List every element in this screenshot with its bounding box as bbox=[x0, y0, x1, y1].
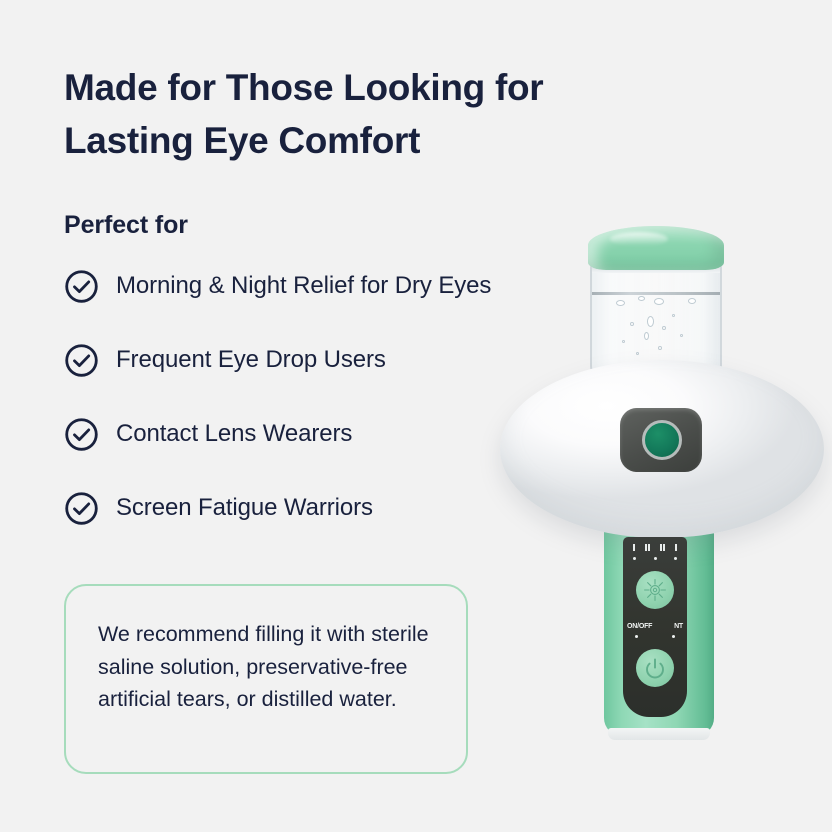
list-item-label: Contact Lens Wearers bbox=[116, 422, 352, 446]
mist-button[interactable] bbox=[636, 571, 674, 609]
recommendation-callout: We recommend filling it with sterile sal… bbox=[64, 584, 468, 774]
check-circle-icon bbox=[64, 491, 99, 526]
bubble bbox=[688, 298, 696, 304]
power-icon bbox=[643, 656, 667, 680]
check-circle-icon bbox=[64, 269, 99, 304]
bubble bbox=[680, 334, 683, 337]
tick-mark bbox=[675, 544, 677, 551]
bubble bbox=[644, 332, 649, 340]
list-item-label: Morning & Night Relief for Dry Eyes bbox=[116, 274, 491, 298]
bubble bbox=[636, 352, 639, 355]
mist-nozzle-icon bbox=[642, 420, 682, 460]
bubble bbox=[622, 340, 625, 343]
mist-spray-icon bbox=[642, 577, 668, 603]
indicator-dot bbox=[674, 557, 677, 560]
bubble bbox=[654, 298, 664, 305]
tick-mark bbox=[645, 544, 650, 551]
indicator-dot bbox=[633, 557, 636, 560]
onoff-label: ON/OFF bbox=[627, 623, 652, 630]
bubble bbox=[658, 346, 662, 350]
indicator-dot bbox=[654, 557, 657, 560]
nt-label: NT bbox=[674, 623, 683, 630]
led-indicators bbox=[635, 635, 675, 638]
control-labels: ON/OFF NT bbox=[627, 623, 683, 630]
indicator-dots bbox=[633, 557, 677, 560]
product-image: ON/OFF NT bbox=[492, 212, 832, 752]
bubble bbox=[630, 322, 634, 326]
product-feature-page: Made for Those Looking for Lasting Eye C… bbox=[0, 0, 832, 832]
power-button[interactable] bbox=[636, 649, 674, 687]
handle-base bbox=[608, 728, 710, 740]
list-item-label: Screen Fatigue Warriors bbox=[116, 496, 373, 520]
cap-highlight bbox=[610, 232, 668, 246]
recommendation-text: We recommend filling it with sterile sal… bbox=[98, 618, 436, 716]
page-title: Made for Those Looking for Lasting Eye C… bbox=[64, 62, 604, 167]
check-circle-icon bbox=[64, 343, 99, 378]
check-circle-icon bbox=[64, 417, 99, 452]
bubble bbox=[638, 296, 645, 301]
tick-mark bbox=[633, 544, 635, 551]
bubble bbox=[672, 314, 675, 317]
list-item-label: Frequent Eye Drop Users bbox=[116, 348, 386, 372]
led-indicator bbox=[635, 635, 638, 638]
led-indicator bbox=[672, 635, 675, 638]
bubble bbox=[662, 326, 666, 330]
bubble bbox=[616, 300, 625, 306]
indicator-ticks bbox=[633, 544, 677, 552]
bubble bbox=[647, 316, 654, 327]
tick-mark bbox=[660, 544, 665, 551]
water-line bbox=[592, 292, 720, 295]
control-panel: ON/OFF NT bbox=[623, 537, 687, 717]
